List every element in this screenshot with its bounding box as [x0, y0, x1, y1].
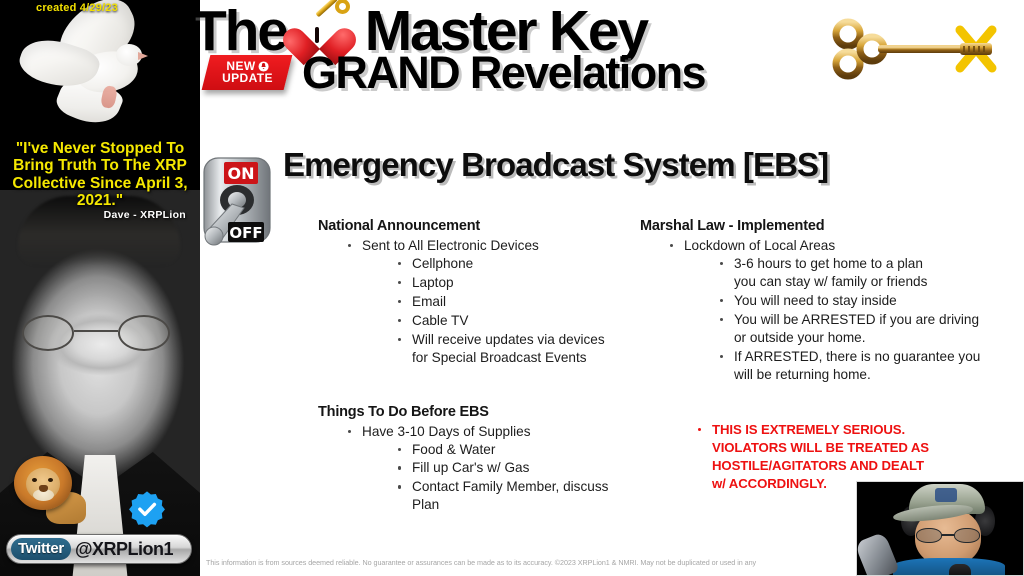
- list-item: Fill up Car's w/ Gas: [396, 459, 636, 477]
- list-item-text: Email: [412, 294, 446, 309]
- warning-line-2: VIOLATORS WILL BE TREATED AS: [712, 439, 1020, 457]
- bullet-list-level2: 3-6 hours to get home to a plan you can …: [718, 255, 1020, 384]
- new-update-badge: NEW UPDATE: [202, 55, 293, 90]
- sidebar-quote: "I've Never Stopped To Bring Truth To Th…: [0, 140, 200, 209]
- sidebar-quote-attribution: Dave - XRPLion: [0, 209, 186, 221]
- header: The Master Key NEW: [186, 0, 1024, 106]
- warning-line-1: THIS IS EXTREMELY SERIOUS.: [712, 422, 905, 437]
- list-item-continuation: for Special Broadcast Events: [412, 349, 636, 367]
- portrait-lens-right: [118, 315, 170, 351]
- created-date-label: created 4/29/23: [36, 2, 118, 14]
- bullet-list-level2: Cellphone Laptop Email Cable TV: [396, 255, 636, 367]
- webcam-lens-right: [954, 528, 980, 543]
- list-item-text: If ARRESTED, there is no guarantee you: [734, 349, 980, 364]
- list-item-text: 3-6 hours to get home to a plan: [734, 256, 923, 271]
- bullet-dot: [398, 281, 401, 284]
- bullet-dot: [398, 338, 401, 341]
- footer-disclaimer: This information is from sources deemed …: [206, 558, 906, 567]
- webcam-glasses-icon: [915, 528, 981, 543]
- page-title: Emergency Broadcast System [EBS]: [283, 146, 828, 184]
- webcam-cap-logo: [935, 488, 957, 502]
- bullet-list-level1: Sent to All Electronic Devices Cellphone…: [346, 237, 636, 367]
- list-item-continuation: or outside your home.: [734, 329, 1020, 347]
- list-item-text: Have 3-10 Days of Supplies: [362, 424, 531, 439]
- left-sidebar: created 4/29/23 "I've Never Stopped To B…: [0, 0, 200, 576]
- list-item: Cable TV: [396, 312, 636, 330]
- switch-on-label: ON: [228, 164, 255, 183]
- list-item-text: You will need to stay inside: [734, 293, 897, 308]
- webcam-microphone-foreground: [949, 564, 971, 576]
- lion-icon: [6, 452, 84, 524]
- bullet-dot: [720, 299, 723, 302]
- bullet-dot: [698, 428, 701, 431]
- dove-icon: [24, 8, 186, 138]
- list-item: You will need to stay inside: [718, 292, 1020, 310]
- section-heading-marshal-law: Marshal Law - Implemented: [640, 218, 1020, 234]
- bullet-dot: [348, 430, 351, 433]
- heart-keyhole: [315, 27, 319, 43]
- list-item-text: Cable TV: [412, 313, 468, 328]
- key-bow: [335, 0, 350, 14]
- list-item: Email: [396, 293, 636, 311]
- bullet-dot: [398, 300, 401, 303]
- bullet-list-level1: Lockdown of Local Areas 3-6 hours to get…: [668, 237, 1020, 384]
- twitter-label: Twitter: [11, 538, 71, 560]
- list-item: Lockdown of Local Areas 3-6 hours to get…: [668, 237, 1020, 384]
- list-item: Food & Water: [396, 441, 636, 459]
- bullet-dot: [720, 355, 723, 358]
- webcam-microphone: [856, 532, 900, 576]
- list-item-text: Fill up Car's w/ Gas: [412, 460, 529, 475]
- slide-root: created 4/29/23 "I've Never Stopped To B…: [0, 0, 1024, 576]
- list-item: Laptop: [396, 274, 636, 292]
- dove-beak: [138, 52, 148, 60]
- bullet-dot: [398, 262, 401, 265]
- list-item-continuation: you can stay w/ family or friends: [734, 273, 1020, 291]
- portrait-lens-left: [22, 315, 74, 351]
- section-spacer: [640, 385, 1020, 421]
- bullet-dot: [398, 466, 401, 469]
- list-item-text: Laptop: [412, 275, 454, 290]
- bullet-dot: [398, 448, 401, 451]
- warning-line-3: HOSTILE/AGITATORS AND DEALT: [712, 457, 1020, 475]
- section-spacer: [318, 368, 636, 404]
- webcam-lens-left: [916, 528, 942, 543]
- list-item-text: You will be ARRESTED if you are driving: [734, 312, 979, 327]
- list-item-text: Sent to All Electronic Devices: [362, 238, 539, 253]
- header-subtitle: GRAND Revelations: [302, 47, 705, 99]
- gold-skeleton-key-icon: [820, 18, 1010, 80]
- on-off-toggle-switch-icon: ON OFF: [198, 148, 276, 260]
- bullet-dot: [670, 244, 673, 247]
- lion-eye-right: [48, 478, 53, 482]
- portrait-glasses-icon: [14, 315, 186, 351]
- lion-nose: [39, 485, 48, 492]
- list-item: Have 3-10 Days of Supplies Food & Water …: [346, 423, 636, 515]
- list-item-text: Cellphone: [412, 256, 473, 271]
- new-update-badge-line2: UPDATE: [222, 73, 273, 85]
- list-item: Will receive updates via devices for Spe…: [396, 331, 636, 367]
- list-item: If ARRESTED, there is no guarantee you w…: [718, 348, 1020, 384]
- list-item: Contact Family Member, discuss Plan: [396, 478, 636, 514]
- bullet-dot: [398, 485, 401, 488]
- bullet-dot: [720, 262, 723, 265]
- content-column-right: Marshal Law - Implemented Lockdown of Lo…: [640, 218, 1020, 494]
- bell-icon: [257, 61, 268, 72]
- presenter-webcam-overlay[interactable]: [856, 481, 1024, 576]
- list-item: 3-6 hours to get home to a plan you can …: [718, 255, 1020, 291]
- bullet-dot: [720, 318, 723, 321]
- list-item-text: Lockdown of Local Areas: [684, 238, 835, 253]
- list-item-text: Contact Family Member, discuss Plan: [412, 479, 608, 512]
- switch-off-label: OFF: [229, 224, 262, 242]
- portrait-glasses-bridge: [74, 330, 118, 332]
- bullet-dot: [348, 244, 351, 247]
- webcam-glasses-bridge: [942, 534, 954, 536]
- twitter-handle-text: @XRPLion1: [75, 540, 173, 558]
- list-item: Sent to All Electronic Devices Cellphone…: [346, 237, 636, 367]
- list-item: Cellphone: [396, 255, 636, 273]
- list-item-text: Food & Water: [412, 442, 495, 457]
- bullet-dot: [398, 319, 401, 322]
- list-item: You will be ARRESTED if you are driving …: [718, 311, 1020, 347]
- list-item-continuation: will be returning home.: [734, 366, 1020, 384]
- section-heading-things-to-do: Things To Do Before EBS: [318, 404, 636, 420]
- content-column-left: National Announcement Sent to All Electr…: [318, 218, 636, 515]
- bullet-list-level2: Food & Water Fill up Car's w/ Gas Contac…: [396, 441, 636, 515]
- twitter-handle-pill[interactable]: Twitter @XRPLion1: [6, 534, 192, 564]
- bullet-list-level1: Have 3-10 Days of Supplies Food & Water …: [346, 423, 636, 515]
- verified-badge-icon: [128, 490, 166, 528]
- list-item-text: Will receive updates via devices: [412, 332, 605, 347]
- section-heading-national-announcement: National Announcement: [318, 218, 636, 234]
- lion-eye-left: [32, 478, 37, 482]
